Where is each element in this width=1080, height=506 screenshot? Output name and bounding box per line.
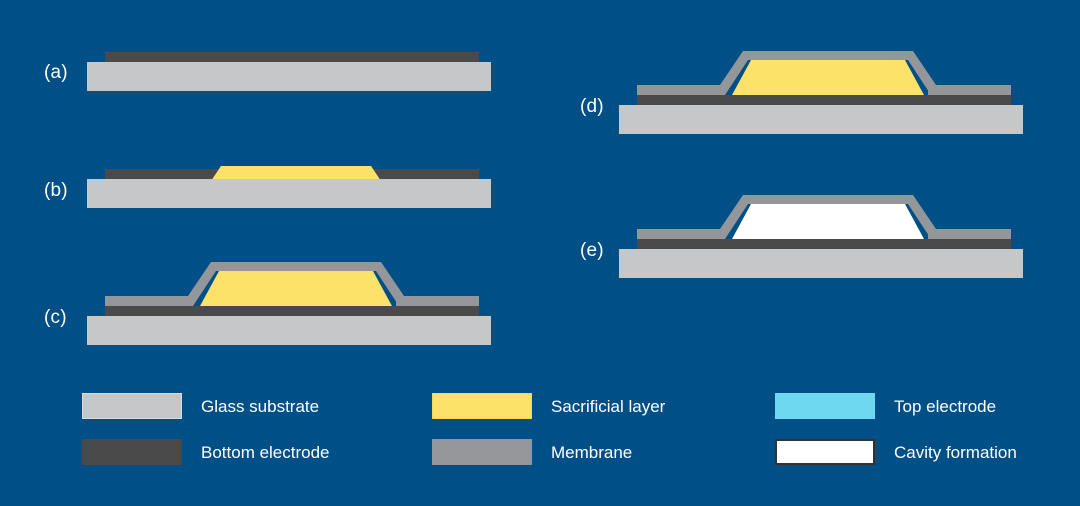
panel-b-cross-section [80, 140, 500, 220]
legend-label-bottom-electrode: Bottom electrode [201, 444, 330, 461]
panel-e-cross-section [612, 178, 1032, 278]
sacrificial-layer [732, 60, 924, 95]
legend-item-membrane: Membrane [432, 439, 632, 465]
legend-swatch-membrane [432, 439, 532, 465]
membrane-shelf-left [105, 296, 193, 306]
panel-label-a: (a) [44, 62, 68, 84]
panel-label-d: (d) [580, 96, 604, 118]
panel-c-cross-section [80, 258, 500, 348]
glass-substrate-layer [619, 249, 1023, 278]
glass-substrate-layer [87, 62, 491, 91]
legend-swatch-top-electrode [775, 393, 875, 419]
legend-item-cavity-formation: Cavity formation [775, 439, 1017, 465]
legend-item-sacrificial-layer: Sacrificial layer [432, 393, 665, 419]
glass-substrate-layer [87, 316, 491, 345]
legend-label-cavity-formation: Cavity formation [894, 444, 1017, 461]
legend-label-sacrificial-layer: Sacrificial layer [551, 398, 665, 415]
panel-label-c: (c) [44, 307, 67, 329]
panel-label-b: (b) [44, 180, 68, 202]
membrane-shelf-left [637, 85, 725, 95]
legend-swatch-sacrificial-layer [432, 393, 532, 419]
legend-swatch-bottom-electrode [82, 439, 182, 465]
sacrificial-layer-top [211, 166, 381, 181]
process-flow-figure: (a) (b) (c) [0, 0, 1080, 506]
legend-label-top-electrode: Top electrode [894, 398, 996, 415]
membrane-shelf-left [637, 229, 725, 239]
glass-substrate-layer [87, 179, 491, 208]
panel-label-e: (e) [580, 240, 604, 262]
legend-swatch-cavity-formation [775, 439, 875, 465]
sacrificial-layer [200, 271, 392, 306]
legend-label-glass-substrate: Glass substrate [201, 398, 319, 415]
panel-a-cross-section [80, 40, 500, 100]
cavity-formation [732, 204, 924, 239]
legend-item-bottom-electrode: Bottom electrode [82, 439, 330, 465]
glass-substrate-layer [619, 105, 1023, 134]
legend-label-membrane: Membrane [551, 444, 632, 461]
legend-item-top-electrode: Top electrode [775, 393, 996, 419]
legend-swatch-glass-substrate [82, 393, 182, 419]
membrane-shelf-right [928, 85, 1011, 95]
legend: Glass substrate Bottom electrode Sacrifi… [0, 378, 1080, 478]
panel-d-cross-section [612, 34, 1032, 134]
membrane-shelf-right [396, 296, 479, 306]
legend-item-glass-substrate: Glass substrate [82, 393, 319, 419]
membrane-shelf-right [928, 229, 1011, 239]
